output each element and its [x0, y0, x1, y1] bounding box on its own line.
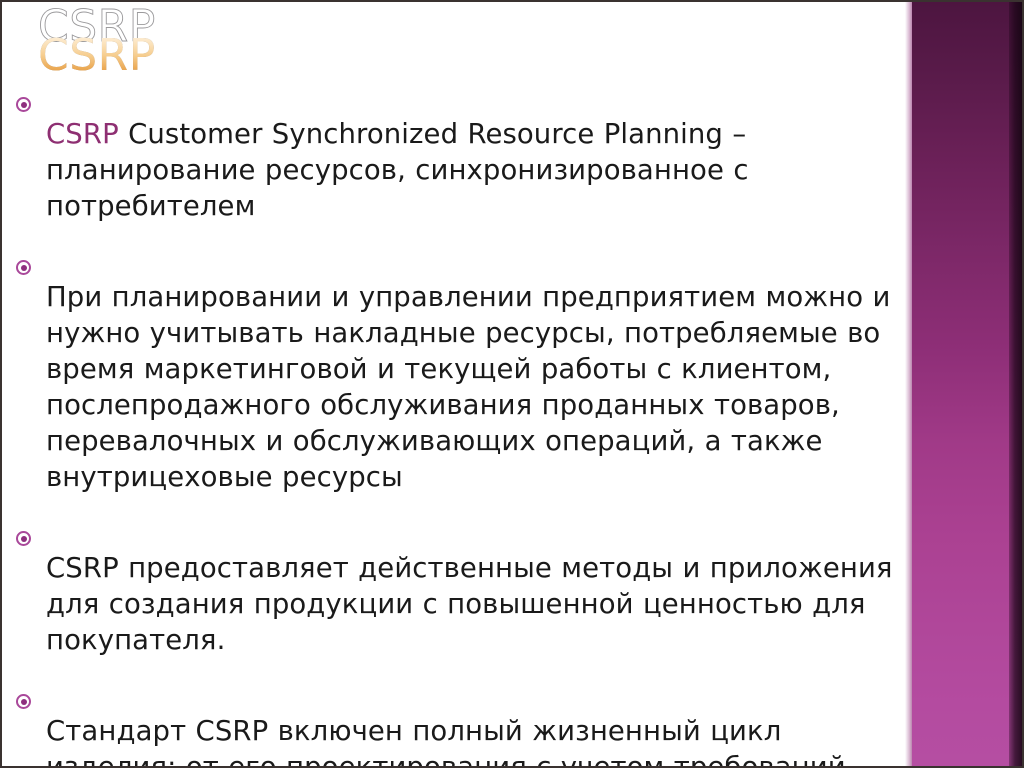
list-item: CSRP Customer Synchronized Resource Plan… — [16, 88, 906, 251]
list-item-body: Стандарт CSRP включен полный жизненный ц… — [46, 715, 875, 768]
list-item-highlight: CSRP — [46, 118, 119, 150]
list-item-text: CSRP Customer Synchronized Resource Plan… — [46, 116, 906, 224]
list-item: При планировании и управлении предприяти… — [16, 251, 906, 522]
list-item: CSRP предоставляет действенные методы и … — [16, 522, 906, 685]
list-item-body: CSRP предоставляет действенные методы и … — [46, 552, 893, 656]
band-right-edge — [1009, 2, 1022, 766]
bullet-list: CSRP Customer Synchronized Resource Plan… — [16, 88, 906, 768]
decorative-side-band — [912, 2, 1022, 766]
list-item-text: При планировании и управлении предприяти… — [46, 279, 906, 495]
page-title: CSRP — [38, 33, 156, 79]
ring-dot-bullet-icon — [16, 251, 46, 275]
ring-dot-bullet-icon — [16, 685, 46, 709]
list-item-text: Стандарт CSRP включен полный жизненный ц… — [46, 713, 906, 768]
ring-dot-bullet-icon — [16, 522, 46, 546]
list-item: Стандарт CSRP включен полный жизненный ц… — [16, 685, 906, 768]
ring-dot-bullet-icon — [16, 88, 46, 112]
list-item-body: Customer Synchronized Resource Planning … — [46, 118, 749, 222]
list-item-body: При планировании и управлении предприяти… — [46, 281, 890, 493]
band-left-feather — [905, 2, 912, 766]
list-item-text: CSRP предоставляет действенные методы и … — [46, 550, 906, 658]
slide: CSRP CSRP CSRP Customer Synchronized Res… — [0, 0, 1024, 768]
